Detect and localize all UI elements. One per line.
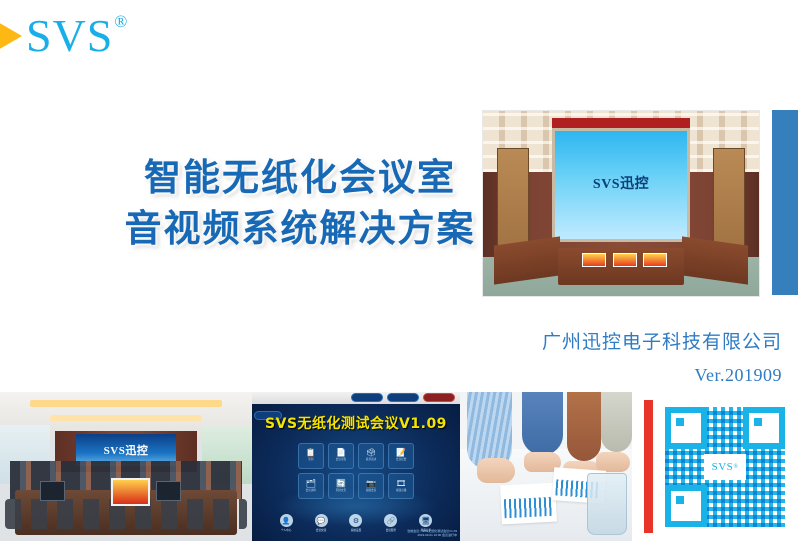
ballot-icon: 🗳 (366, 449, 376, 457)
strip-photo-conference-room: SVS迅控 (0, 392, 252, 541)
qr-center-logo: SVS® (704, 454, 746, 480)
ui-dock-label: 会议交流 (316, 528, 326, 532)
ui-topbar (252, 392, 460, 404)
document-icon: 📄 (336, 449, 346, 457)
hand-4 (596, 452, 630, 473)
qr-code[interactable]: SVS® (665, 407, 785, 527)
clipboard-icon: 📋 (306, 449, 316, 457)
title-line-2: 音视频系统解决方案 (100, 203, 500, 254)
ui-app-label: 投票表决 (366, 459, 376, 462)
accent-bar (772, 110, 798, 295)
ui-dock-label: 会议服务 (386, 528, 396, 532)
ui-app-label: 视频点播 (396, 490, 406, 493)
registered-trademark-icon: ® (114, 12, 127, 32)
hand-1 (477, 458, 515, 483)
monitor-icon: 🖥 (419, 514, 432, 527)
hero-screen-brand: SVS迅控 (593, 177, 649, 193)
ui-dock-item-chat[interactable]: 💬 会议交流 (315, 514, 328, 532)
page-title: 智能无纸化会议室 音视频系统解决方案 (100, 152, 500, 254)
ui-app-video-conference[interactable]: 📷 视频会议 (358, 473, 384, 499)
red-accent-bar (644, 400, 653, 533)
ui-topbar-button-0[interactable] (351, 393, 383, 402)
person-sleeve-3 (567, 392, 601, 461)
hero-flag-1 (582, 253, 606, 266)
ui-dock-item-profile[interactable]: 👤 个人中心 (280, 514, 293, 532)
ui-app-signin[interactable]: 📋 签到 (298, 443, 324, 469)
strip-qr-code-panel: SVS® (632, 392, 800, 541)
water-glass (587, 473, 627, 535)
company-block: 广州迅控电子科技有限公司 Ver.201909 (542, 328, 782, 386)
ui-status-text: 当前会议：SVS无纸化测试会议V1.09 2019-09-01 10:00 会议… (407, 530, 457, 538)
logo-triangle-icon (0, 21, 22, 51)
ui-status-line-2: 2019-09-01 10:00 会议进行中 (407, 534, 457, 538)
qr-finder-top-right-icon (743, 407, 785, 449)
ui-dock-label: 个人中心 (281, 528, 291, 532)
ui-app-video-ondemand[interactable]: 🎞 视频点播 (388, 473, 414, 499)
user-icon: 👤 (280, 514, 293, 527)
ui-app-vote[interactable]: 🗳 投票表决 (358, 443, 384, 469)
chart-paper-1 (500, 483, 557, 525)
bar-chart-graphic-1 (504, 497, 553, 518)
qr-center-text: SVS (712, 461, 734, 473)
person-sleeve-2 (522, 392, 563, 455)
version-label: Ver.201909 (542, 365, 782, 386)
room-monitor-left (40, 481, 65, 501)
qr-center-trademark: ® (733, 464, 738, 470)
chat-icon: 💬 (315, 514, 328, 527)
ui-app-materials[interactable]: 🗂 会议资料 (298, 473, 324, 499)
person-sleeve-4 (601, 392, 632, 452)
ui-dock-item-settings[interactable]: ⚙ 系统设置 (349, 514, 362, 532)
bottom-image-strip: SVS迅控 SVS无纸化测试会议V1.09 📋 签到 📄 会议议程 (0, 392, 800, 541)
svs-logo: SVS ® (0, 12, 126, 60)
logo-wordmark: SVS (26, 13, 113, 59)
ui-app-label: 会议资料 (306, 490, 316, 493)
room-flag (111, 478, 150, 506)
room-monitor-right (156, 481, 181, 501)
ui-app-label: 签到 (308, 459, 313, 462)
strip-screenshot-paperless-ui: SVS无纸化测试会议V1.09 📋 签到 📄 会议议程 🗳 投票表决 📝 会议纪… (252, 392, 460, 541)
ui-app-label: 同屏交互 (336, 490, 346, 493)
notes-icon: 📝 (396, 449, 406, 457)
ui-app-agenda[interactable]: 📄 会议议程 (328, 443, 354, 469)
folder-icon: 🗂 (306, 480, 316, 488)
hero-flag-2 (613, 253, 637, 266)
film-icon: 🎞 (396, 480, 406, 488)
ui-app-title: SVS无纸化测试会议V1.09 (252, 413, 460, 433)
ui-app-minutes[interactable]: 📝 会议纪要 (388, 443, 414, 469)
ui-app-label: 视频会议 (366, 490, 376, 493)
company-name: 广州迅控电子科技有限公司 (542, 328, 782, 357)
ui-app-screenshare[interactable]: 🔄 同屏交互 (328, 473, 354, 499)
qr-finder-bottom-left-icon (665, 485, 707, 527)
ui-app-label: 会议议程 (336, 459, 346, 462)
hero-flag-3 (643, 253, 667, 266)
hero-conference-room-photo: SVS迅控 (482, 110, 760, 297)
ui-topbar-button-2[interactable] (423, 393, 455, 402)
camera-icon: 📷 (366, 480, 376, 488)
room-screen-brand: SVS迅控 (104, 442, 149, 458)
ui-app-label: 会议纪要 (396, 459, 406, 462)
refresh-icon: 🔄 (336, 480, 346, 488)
qr-finder-top-left-icon (665, 407, 707, 449)
hero-led-screen: SVS迅控 (552, 128, 690, 243)
ui-dock-label: 系统设置 (351, 528, 361, 532)
strip-photo-business-meeting (460, 392, 632, 541)
ui-app-grid: 📋 签到 📄 会议议程 🗳 投票表决 📝 会议纪要 🗂 会议资料 🔄 同 (298, 443, 414, 499)
link-icon: 🔗 (384, 514, 397, 527)
ui-topbar-button-1[interactable] (387, 393, 419, 402)
hero-banner (552, 118, 690, 127)
title-line-1: 智能无纸化会议室 (100, 152, 500, 203)
gear-icon: ⚙ (349, 514, 362, 527)
ui-dock-item-service[interactable]: 🔗 会议服务 (384, 514, 397, 532)
